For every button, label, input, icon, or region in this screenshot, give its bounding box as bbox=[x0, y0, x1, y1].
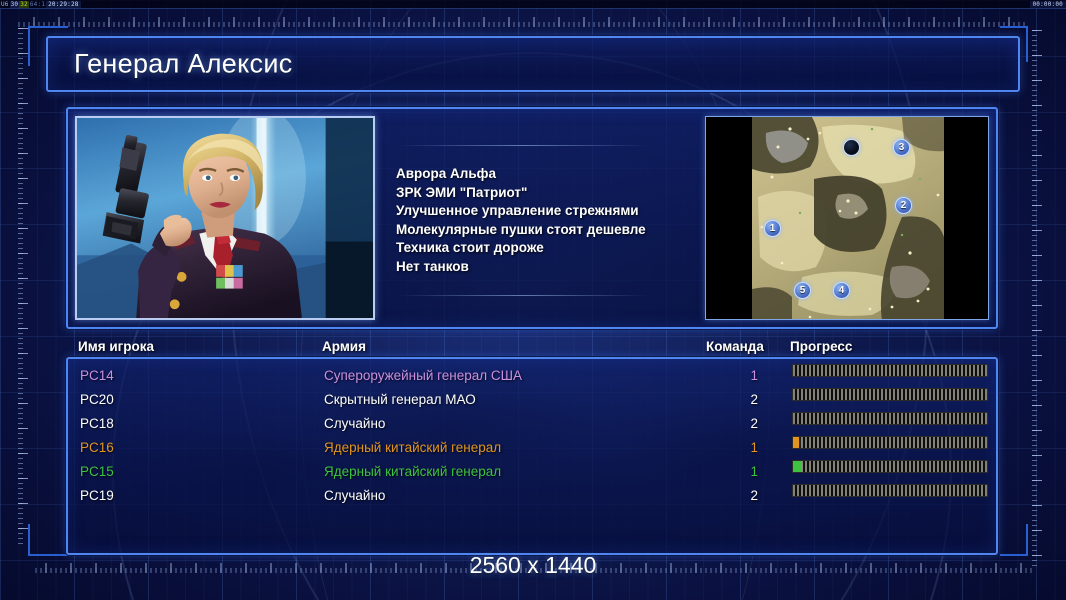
header-progress: Прогресс bbox=[790, 339, 852, 354]
progress-bar-ticks bbox=[793, 365, 987, 376]
table-row[interactable]: PC19Случайно2 bbox=[68, 484, 996, 508]
cell-player-name: PC16 bbox=[80, 436, 114, 460]
hud-segment-3: 64:1 bbox=[29, 1, 46, 8]
player-table-panel: PC14Супероружейный генерал США1PC20Скрыт… bbox=[66, 357, 998, 555]
cell-army: Ядерный китайский генерал bbox=[324, 436, 501, 460]
minimap[interactable]: 12345 bbox=[752, 117, 944, 320]
progress-bar bbox=[792, 364, 988, 377]
cell-team: 2 bbox=[740, 412, 758, 436]
progress-bar-ticks bbox=[793, 485, 987, 496]
minimap-frame[interactable]: 12345 bbox=[705, 116, 989, 320]
general-portrait bbox=[75, 116, 375, 320]
progress-bar bbox=[792, 460, 988, 473]
general-description-line: Техника стоит дороже bbox=[396, 239, 646, 258]
cell-progress bbox=[792, 460, 988, 473]
spawn-point-marker[interactable]: 3 bbox=[893, 139, 910, 156]
hud-segment-0: U6 bbox=[0, 1, 10, 8]
page-title: Генерал Алексис bbox=[74, 49, 293, 80]
cell-player-name: PC19 bbox=[80, 484, 114, 508]
cell-progress bbox=[792, 364, 988, 377]
general-description-line: Молекулярные пушки стоят дешевле bbox=[396, 221, 646, 240]
progress-bar-fill bbox=[793, 437, 799, 448]
cell-team: 1 bbox=[740, 436, 758, 460]
cell-progress bbox=[792, 436, 988, 449]
general-description-line: ЗРК ЭМИ "Патриот" bbox=[396, 184, 646, 203]
cell-progress bbox=[792, 484, 988, 497]
ruler-left bbox=[18, 28, 29, 548]
hud-segment-4: 20:29:28 bbox=[46, 1, 81, 8]
hud-segment-1: 30 bbox=[10, 1, 20, 8]
cell-player-name: PC15 bbox=[80, 460, 114, 484]
resolution-label: 2560 x 1440 bbox=[0, 552, 1066, 579]
hud-clock: 00:00:00 bbox=[1030, 1, 1066, 8]
general-description-line: Аврора Альфа bbox=[396, 165, 646, 184]
cell-player-name: PC14 bbox=[80, 364, 114, 388]
progress-bar-fill bbox=[793, 461, 801, 472]
general-info-panel: Аврора АльфаЗРК ЭМИ "Патриот"Улучшенное … bbox=[66, 107, 998, 329]
header-team: Команда bbox=[706, 339, 764, 354]
desc-divider-bottom bbox=[398, 295, 648, 296]
progress-bar-ticks bbox=[793, 389, 987, 400]
progress-bar bbox=[792, 436, 988, 449]
spawn-point-marker[interactable]: 1 bbox=[764, 220, 781, 237]
table-row[interactable]: PC18Случайно2 bbox=[68, 412, 996, 436]
progress-bar bbox=[792, 484, 988, 497]
cell-team: 2 bbox=[740, 388, 758, 412]
table-row[interactable]: PC20Скрытный генерал МАО2 bbox=[68, 388, 996, 412]
spawn-point-marker[interactable]: 5 bbox=[794, 282, 811, 299]
cell-progress bbox=[792, 388, 988, 401]
progress-bar-ticks bbox=[793, 461, 987, 472]
general-description: Аврора АльфаЗРК ЭМИ "Патриот"Улучшенное … bbox=[396, 165, 646, 277]
progress-bar bbox=[792, 388, 988, 401]
cell-army: Супероружейный генерал США bbox=[324, 364, 522, 388]
table-row[interactable]: PC14Супероружейный генерал США1 bbox=[68, 364, 996, 388]
table-row[interactable]: PC15Ядерный китайский генерал1 bbox=[68, 460, 996, 484]
spawn-point-marker[interactable]: 4 bbox=[833, 282, 850, 299]
desc-divider-top bbox=[398, 145, 648, 146]
header-player-name: Имя игрока bbox=[78, 339, 154, 354]
cell-team: 2 bbox=[740, 484, 758, 508]
spawn-point-marker[interactable]: 2 bbox=[895, 197, 912, 214]
cell-player-name: PC18 bbox=[80, 412, 114, 436]
cell-army: Скрытный генерал МАО bbox=[324, 388, 476, 412]
table-row[interactable]: PC16Ядерный китайский генерал1 bbox=[68, 436, 996, 460]
ruler-right bbox=[1032, 30, 1043, 570]
cell-army: Ядерный китайский генерал bbox=[324, 460, 501, 484]
hud-top-bar: U6 30 32 64:1 20:29:28 00:00:00 bbox=[0, 0, 1066, 9]
spawn-point-marker[interactable] bbox=[843, 139, 860, 156]
title-panel: Генерал Алексис bbox=[46, 36, 1020, 92]
cell-team: 1 bbox=[740, 460, 758, 484]
header-army: Армия bbox=[322, 339, 366, 354]
general-description-line: Нет танков bbox=[396, 258, 646, 277]
progress-bar-ticks bbox=[793, 413, 987, 424]
screen-root: U6 30 32 64:1 20:29:28 00:00:00 Генерал … bbox=[0, 0, 1066, 600]
ruler-top bbox=[16, 16, 1026, 27]
cell-army: Случайно bbox=[324, 484, 385, 508]
cell-team: 1 bbox=[740, 364, 758, 388]
cell-player-name: PC20 bbox=[80, 388, 114, 412]
general-description-line: Улучшенное управление стрежнями bbox=[396, 202, 646, 221]
hud-segment-2: 32 bbox=[19, 1, 29, 8]
cell-progress bbox=[792, 412, 988, 425]
table-header-row: Имя игрока Армия Команда Прогресс bbox=[66, 339, 998, 357]
cell-army: Случайно bbox=[324, 412, 385, 436]
progress-bar bbox=[792, 412, 988, 425]
progress-bar-ticks bbox=[793, 437, 987, 448]
